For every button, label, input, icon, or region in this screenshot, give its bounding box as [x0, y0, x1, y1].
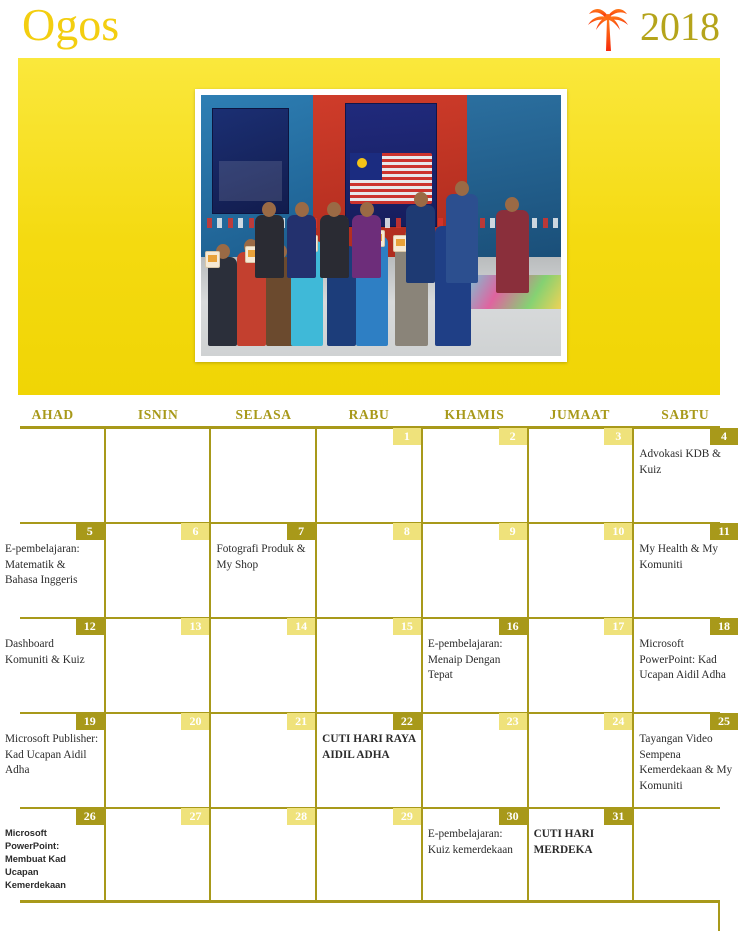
day-cell[interactable]: 18Microsoft PowerPoint: Kad Ucapan Aidil… — [634, 617, 738, 712]
event-text: Dashboard Komuniti & Kuiz — [5, 637, 100, 668]
person — [446, 194, 478, 283]
footer-row — [0, 900, 738, 931]
page-header: Ogos 2018 — [0, 0, 738, 58]
date-badge: 18 — [710, 618, 738, 635]
day-cell[interactable]: 8 — [317, 522, 423, 617]
day-cell[interactable]: 4Advokasi KDB & Kuiz — [634, 427, 738, 522]
day-cell[interactable]: 21 — [211, 712, 317, 807]
day-cell[interactable] — [211, 427, 317, 522]
weekday-header-row: AHAD ISNIN SELASA RABU KHAMIS JUMAAT SAB… — [0, 405, 738, 427]
event-text: Tayangan Video Sempena Kemerdekaan & My … — [639, 732, 734, 794]
weekday-header-khamis: KHAMIS — [422, 405, 527, 427]
day-cell[interactable]: 23 — [423, 712, 529, 807]
day-cell[interactable]: 31CUTI HARI MERDEKA — [529, 807, 635, 902]
poster-left — [212, 108, 290, 214]
date-badge: 15 — [393, 618, 421, 635]
date-badge: 4 — [710, 428, 738, 445]
date-badge: 31 — [604, 808, 632, 825]
date-badge: 10 — [604, 523, 632, 540]
day-cell[interactable]: 15 — [317, 617, 423, 712]
footer-right-rule — [718, 900, 720, 931]
weekday-header-isnin: ISNIN — [105, 405, 210, 427]
date-badge: 30 — [499, 808, 527, 825]
date-badge: 16 — [499, 618, 527, 635]
date-badge: 21 — [287, 713, 315, 730]
day-cell[interactable]: 19Microsoft Publisher: Kad Ucapan Aidil … — [0, 712, 106, 807]
event-text: E-pembelajaran: Kuiz kemerdekaan — [428, 827, 523, 858]
photo-banner — [18, 58, 720, 395]
week-row: 5E-pembelajaran: Matematik & Bahasa Ingg… — [0, 522, 738, 617]
photo-frame — [195, 89, 567, 362]
day-cell[interactable]: 7Fotografi Produk & My Shop — [211, 522, 317, 617]
date-badge: 3 — [604, 428, 632, 445]
weekday-header-rabu: RABU — [316, 405, 421, 427]
event-text: E-pembelajaran: Matematik & Bahasa Ingge… — [5, 542, 100, 589]
head-icon — [295, 202, 309, 217]
day-cell[interactable]: 29 — [317, 807, 423, 902]
head-icon — [262, 202, 276, 217]
footer-divider — [20, 900, 720, 903]
day-cell[interactable]: 2 — [423, 427, 529, 522]
person — [496, 210, 528, 294]
date-badge: 11 — [710, 523, 738, 540]
date-badge: 7 — [287, 523, 315, 540]
card-icon — [205, 251, 220, 268]
person — [406, 205, 435, 283]
weekday-header-sabtu: SABTU — [633, 405, 738, 427]
date-badge: 20 — [181, 713, 209, 730]
day-cell[interactable]: 11My Health & My Komuniti — [634, 522, 738, 617]
head-icon — [414, 192, 428, 207]
event-text: Fotografi Produk & My Shop — [216, 542, 311, 573]
event-text: E-pembelajaran: Menaip Dengan Tepat — [428, 637, 523, 684]
day-cell[interactable]: 30E-pembelajaran: Kuiz kemerdekaan — [423, 807, 529, 902]
day-cell[interactable] — [106, 427, 212, 522]
day-cell[interactable] — [634, 807, 738, 902]
day-cell[interactable] — [0, 427, 106, 522]
date-badge: 1 — [393, 428, 421, 445]
day-cell[interactable]: 26Microsoft PowerPoint: Membuat Kad Ucap… — [0, 807, 106, 902]
date-badge: 24 — [604, 713, 632, 730]
week-row: 19Microsoft Publisher: Kad Ucapan Aidil … — [0, 712, 738, 807]
day-cell[interactable]: 17 — [529, 617, 635, 712]
day-cell[interactable]: 25Tayangan Video Sempena Kemerdekaan & M… — [634, 712, 738, 807]
day-cell[interactable]: 6 — [106, 522, 212, 617]
day-cell[interactable]: 16E-pembelajaran: Menaip Dengan Tepat — [423, 617, 529, 712]
day-cell[interactable]: 24 — [529, 712, 635, 807]
person — [287, 215, 316, 278]
event-text: My Health & My Komuniti — [639, 542, 734, 573]
day-cell[interactable]: 1 — [317, 427, 423, 522]
weekday-header-selasa: SELASA — [211, 405, 316, 427]
event-text: CUTI HARI MERDEKA — [534, 827, 629, 858]
head-icon — [505, 197, 519, 212]
event-text: Microsoft Publisher: Kad Ucapan Aidil Ad… — [5, 732, 100, 779]
date-badge: 13 — [181, 618, 209, 635]
date-badge: 5 — [76, 523, 104, 540]
day-cell[interactable]: 10 — [529, 522, 635, 617]
event-text: CUTI HARI RAYA AIDIL ADHA — [322, 732, 417, 763]
day-cell[interactable]: 3 — [529, 427, 635, 522]
week-row: 26Microsoft PowerPoint: Membuat Kad Ucap… — [0, 807, 738, 902]
year-label: 2018 — [640, 2, 720, 52]
weekday-header-jumaat: JUMAAT — [527, 405, 632, 427]
date-badge: 26 — [76, 808, 104, 825]
date-badge: 19 — [76, 713, 104, 730]
date-badge: 25 — [710, 713, 738, 730]
head-icon — [327, 202, 341, 217]
week-row: 12Dashboard Komuniti & Kuiz 13 14 15 16E… — [0, 617, 738, 712]
date-badge: 6 — [181, 523, 209, 540]
date-badge: 23 — [499, 713, 527, 730]
day-cell[interactable]: 22CUTI HARI RAYA AIDIL ADHA — [317, 712, 423, 807]
week-row: 1 2 3 4Advokasi KDB & Kuiz — [0, 427, 738, 522]
event-text: Microsoft PowerPoint: Kad Ucapan Aidil A… — [639, 637, 734, 684]
head-icon — [360, 202, 374, 217]
day-cell[interactable]: 27 — [106, 807, 212, 902]
date-badge: 29 — [393, 808, 421, 825]
date-badge: 22 — [393, 713, 421, 730]
person — [320, 215, 349, 278]
page-title: Ogos — [22, 0, 119, 54]
palm-tree-icon — [586, 4, 630, 52]
head-icon — [455, 181, 469, 196]
weekday-header-ahad: AHAD — [0, 405, 105, 427]
date-badge: 17 — [604, 618, 632, 635]
day-cell[interactable]: 9 — [423, 522, 529, 617]
event-photo — [201, 95, 561, 356]
day-cell[interactable]: 20 — [106, 712, 212, 807]
day-cell[interactable]: 13 — [106, 617, 212, 712]
calendar-grid: AHAD ISNIN SELASA RABU KHAMIS JUMAAT SAB… — [0, 405, 738, 902]
crescent-icon — [357, 158, 367, 168]
date-badge: 14 — [287, 618, 315, 635]
day-cell[interactable]: 14 — [211, 617, 317, 712]
person — [352, 215, 381, 278]
event-text: Advokasi KDB & Kuiz — [639, 447, 734, 478]
date-badge: 8 — [393, 523, 421, 540]
person — [255, 215, 284, 278]
date-badge: 28 — [287, 808, 315, 825]
malaysia-flag-canton — [350, 153, 382, 180]
day-cell[interactable]: 12Dashboard Komuniti & Kuiz — [0, 617, 106, 712]
person — [208, 257, 237, 346]
event-text: Microsoft PowerPoint: Membuat Kad Ucapan… — [5, 827, 100, 892]
day-cell[interactable]: 28 — [211, 807, 317, 902]
day-cell[interactable]: 5E-pembelajaran: Matematik & Bahasa Ingg… — [0, 522, 106, 617]
date-badge: 2 — [499, 428, 527, 445]
date-badge: 9 — [499, 523, 527, 540]
date-badge: 27 — [181, 808, 209, 825]
date-badge: 12 — [76, 618, 104, 635]
